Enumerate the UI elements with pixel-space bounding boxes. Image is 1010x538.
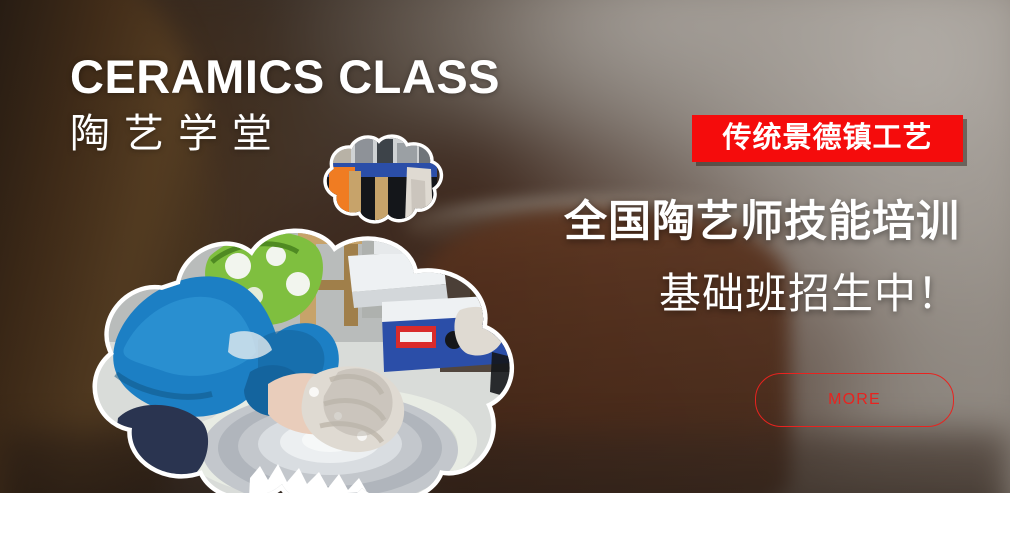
banner-page: CERAMICS CLASS 陶艺学堂	[0, 0, 1010, 538]
main-photo-bubble	[62, 222, 524, 493]
more-button-label: MORE	[828, 392, 881, 408]
status-badge: 传统景德镇工艺	[692, 115, 963, 162]
headline-line-2: 基础班招生中！	[659, 273, 960, 315]
small-photo-content	[315, 133, 447, 225]
headline-line-1: 全国陶艺师技能培训	[564, 201, 960, 244]
small-photo-bubble	[315, 133, 447, 225]
status-badge-label: 传统景德镇工艺	[722, 124, 932, 153]
page-title-chinese: 陶艺学堂	[70, 112, 286, 157]
main-photo-content	[62, 222, 524, 493]
small-cloud-shape	[315, 133, 447, 225]
page-title-english: CERAMICS CLASS	[70, 53, 500, 100]
more-button[interactable]: MORE	[755, 373, 954, 427]
main-cloud-shape	[62, 222, 524, 493]
hero-banner: CERAMICS CLASS 陶艺学堂	[0, 0, 1010, 493]
